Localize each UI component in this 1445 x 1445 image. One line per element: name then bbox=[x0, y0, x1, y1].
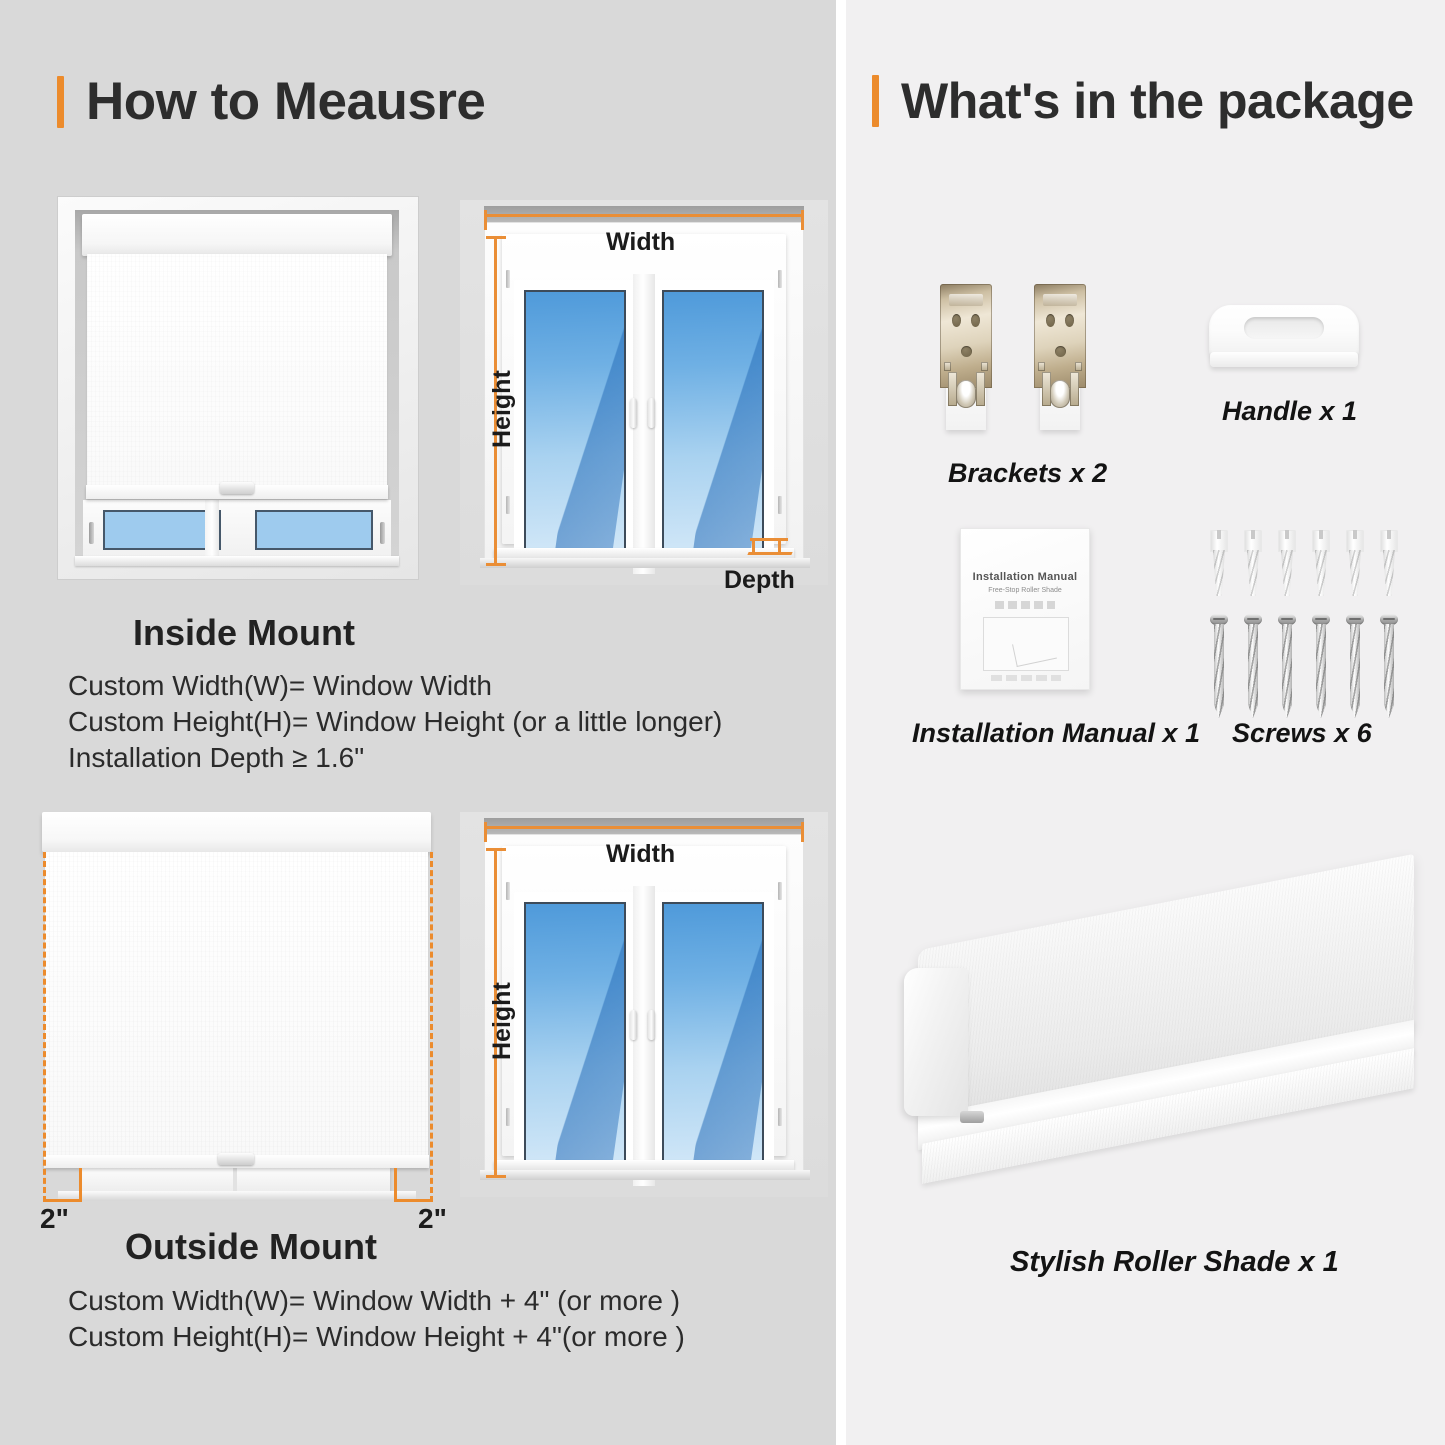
outside-mount-title: Outside Mount bbox=[125, 1226, 377, 1268]
wall-anchor-4 bbox=[1310, 530, 1332, 596]
screw-6 bbox=[1380, 614, 1398, 718]
installation-manual-part: Installation Manual Free-Stop Roller Sha… bbox=[960, 528, 1090, 690]
width-label: Width bbox=[606, 228, 675, 257]
accent-bar-icon bbox=[57, 76, 64, 128]
window-handle-left bbox=[630, 398, 637, 428]
handle-lip bbox=[1210, 352, 1358, 367]
hinge-mark-tl bbox=[506, 270, 510, 288]
window-sash-right bbox=[652, 280, 774, 568]
bracket-slot-l2 bbox=[1038, 362, 1045, 371]
window-sill-ledge-2 bbox=[480, 1170, 810, 1180]
window-sill-outside bbox=[58, 1191, 416, 1200]
width-dimension-cap-right bbox=[801, 210, 804, 230]
screw-shank-2 bbox=[1248, 624, 1258, 718]
bracket-keyhole-1 bbox=[956, 380, 976, 408]
screw-3 bbox=[1278, 614, 1296, 718]
anchor-collar-6 bbox=[1380, 530, 1398, 552]
screw-head-4 bbox=[1312, 614, 1330, 625]
installation-manual-label: Installation Manual x 1 bbox=[912, 718, 1200, 749]
window-sash-row bbox=[83, 500, 391, 562]
manual-cover-title: Installation Manual bbox=[961, 571, 1089, 583]
width-dimension-cap-right-2 bbox=[801, 822, 804, 842]
manual-cover-meta bbox=[995, 601, 1055, 609]
manual-cover-illustration-box bbox=[983, 617, 1069, 671]
anchor-collar-2 bbox=[1244, 530, 1262, 552]
bracket-hole-a2 bbox=[1046, 314, 1055, 327]
outside-mount-shade-illustration bbox=[40, 812, 435, 1202]
height-label-2: Height bbox=[488, 982, 517, 1060]
shade-cassette-outside bbox=[42, 812, 431, 852]
glass-pane-right bbox=[255, 510, 373, 550]
roller-shade-product-photo bbox=[898, 880, 1418, 1210]
width-dimension-line bbox=[484, 214, 804, 217]
screw-head-1 bbox=[1210, 614, 1228, 625]
bracket-hole-c2 bbox=[1055, 346, 1066, 357]
manual-cover-footer bbox=[991, 675, 1061, 681]
manual-cover-sketch bbox=[1012, 636, 1057, 667]
shade-fabric bbox=[87, 254, 387, 487]
screw-head-3 bbox=[1278, 614, 1296, 625]
wall-anchor-1 bbox=[1208, 530, 1230, 596]
width-dimension-line-2 bbox=[484, 826, 804, 829]
window-hinge-left bbox=[89, 522, 94, 544]
height-label: Height bbox=[488, 370, 517, 448]
screw-shank-5 bbox=[1350, 624, 1360, 718]
handle-grip-slot bbox=[1244, 317, 1324, 339]
handle-label: Handle x 1 bbox=[1222, 396, 1357, 427]
height-dimension-cap-top bbox=[486, 236, 506, 239]
inside-mount-line-3: Installation Depth ≥ 1.6" bbox=[68, 742, 364, 774]
window-dimension-figure-outside: Width Height bbox=[460, 812, 828, 1197]
window-sash-right-2 bbox=[652, 892, 774, 1180]
window-casement bbox=[502, 234, 786, 544]
hinge-mark-tl-2 bbox=[506, 882, 510, 900]
glass-glare-right bbox=[688, 290, 764, 558]
handle-part bbox=[1209, 305, 1359, 373]
width-label-2: Width bbox=[606, 840, 675, 869]
bracket-hole-b1 bbox=[971, 314, 980, 327]
overhang-arrow-right bbox=[394, 1199, 432, 1202]
glass-right bbox=[662, 290, 764, 558]
anchor-shaft-3 bbox=[1281, 550, 1293, 596]
hinge-mark-tr bbox=[778, 270, 782, 288]
shade-pull-handle-outside bbox=[218, 1153, 254, 1165]
outside-mount-line-2: Custom Height(H)= Window Height + 4"(or … bbox=[68, 1321, 685, 1353]
overhang-label-right: 2" bbox=[418, 1203, 447, 1235]
anchor-shaft-1 bbox=[1213, 550, 1225, 596]
inside-mount-title: Inside Mount bbox=[133, 612, 355, 654]
overhang-tick-left bbox=[79, 1168, 82, 1202]
glass-glare-left bbox=[550, 290, 626, 558]
shade-pin-end bbox=[960, 1111, 984, 1123]
overhang-label-left: 2" bbox=[40, 1203, 69, 1235]
window-handle-left-2 bbox=[630, 1010, 637, 1040]
screws-label: Screws x 6 bbox=[1232, 718, 1372, 749]
screw-shank-6 bbox=[1384, 624, 1394, 718]
glass-left-2 bbox=[524, 902, 626, 1170]
screw-4 bbox=[1312, 614, 1330, 718]
shade-pull-handle bbox=[220, 482, 254, 494]
anchor-shaft-6 bbox=[1383, 550, 1395, 596]
overhang-dashed-line-right bbox=[430, 852, 433, 1202]
accent-bar-icon-right bbox=[872, 75, 879, 127]
anchor-shaft-4 bbox=[1315, 550, 1327, 596]
inside-mount-shade-illustration bbox=[57, 196, 417, 578]
right-section-heading: What's in the package bbox=[872, 75, 1414, 127]
bracket-tab-r2 bbox=[1070, 372, 1079, 406]
hinge-mark-tr-2 bbox=[778, 882, 782, 900]
wall-anchor-2 bbox=[1242, 530, 1264, 596]
screw-head-2 bbox=[1244, 614, 1262, 625]
hinge-mark-br bbox=[778, 496, 782, 514]
width-dimension-cap-left bbox=[484, 210, 487, 230]
wall-anchor-6 bbox=[1378, 530, 1400, 596]
overhang-arrow-left bbox=[43, 1199, 81, 1202]
outside-mount-line-1: Custom Width(W)= Window Width + 4" (or m… bbox=[68, 1285, 680, 1317]
shade-fabric-outside bbox=[45, 852, 428, 1157]
window-sash-left bbox=[514, 280, 636, 568]
screw-shank-4 bbox=[1316, 624, 1326, 718]
screw-head-5 bbox=[1346, 614, 1364, 625]
inside-mount-line-2: Custom Height(H)= Window Height (or a li… bbox=[68, 706, 722, 738]
left-heading-text: How to Meausre bbox=[86, 75, 485, 128]
window-handle-right bbox=[648, 398, 655, 428]
bracket-hole-b2 bbox=[1065, 314, 1074, 327]
brackets-label: Brackets x 2 bbox=[948, 458, 1107, 489]
window-mullion bbox=[205, 500, 219, 558]
inside-mount-line-1: Custom Width(W)= Window Width bbox=[68, 670, 492, 702]
window-sill bbox=[75, 556, 399, 566]
width-dimension-cap-left-2 bbox=[484, 822, 487, 842]
bracket-hole-a1 bbox=[952, 314, 961, 327]
depth-dimension-line bbox=[750, 538, 788, 541]
window-dimension-figure-inside: Width Height Depth bbox=[460, 200, 828, 585]
screw-shank-3 bbox=[1282, 624, 1292, 718]
anchor-collar-5 bbox=[1346, 530, 1364, 552]
shade-cassette bbox=[82, 214, 392, 256]
bracket-part-2 bbox=[1032, 282, 1088, 432]
anchor-shaft-2 bbox=[1247, 550, 1259, 596]
screw-1 bbox=[1210, 614, 1228, 718]
bracket-tab-r1 bbox=[976, 372, 985, 406]
screw-shank-1 bbox=[1214, 624, 1224, 718]
window-sash-left-2 bbox=[514, 892, 636, 1180]
depth-label: Depth bbox=[724, 566, 795, 595]
glass-pane-left bbox=[103, 510, 221, 550]
glass-glare-right-2 bbox=[688, 902, 764, 1170]
overhang-tick-right bbox=[394, 1168, 397, 1202]
wall-anchor-5 bbox=[1344, 530, 1366, 596]
glass-right-2 bbox=[662, 902, 764, 1170]
window-hinge-right bbox=[380, 522, 385, 544]
manual-cover-subtitle: Free-Stop Roller Shade bbox=[961, 587, 1089, 594]
wall-anchor-3 bbox=[1276, 530, 1298, 596]
anchor-collar-3 bbox=[1278, 530, 1296, 552]
anchor-collar-1 bbox=[1210, 530, 1228, 552]
hinge-mark-br-2 bbox=[778, 1108, 782, 1126]
glass-left bbox=[524, 290, 626, 558]
height-dimension-cap-top-2 bbox=[486, 848, 506, 851]
overhang-dashed-line-left bbox=[43, 852, 46, 1202]
height-dimension-cap-bottom-2 bbox=[486, 1175, 506, 1178]
hinge-mark-bl bbox=[506, 496, 510, 514]
depth-dimension-cap-right bbox=[778, 538, 781, 554]
depth-dimension-cap-left bbox=[752, 538, 755, 554]
handle-body bbox=[1209, 305, 1359, 357]
screw-5 bbox=[1346, 614, 1364, 718]
window-handle-right-2 bbox=[648, 1010, 655, 1040]
bracket-slot-r1 bbox=[981, 362, 988, 371]
shade-end-cap bbox=[904, 968, 968, 1116]
screw-head-6 bbox=[1380, 614, 1398, 625]
bracket-slot-r2 bbox=[1075, 362, 1082, 371]
left-section-heading: How to Meausre bbox=[57, 75, 485, 128]
screw-2 bbox=[1244, 614, 1262, 718]
glass-glare-left-2 bbox=[550, 902, 626, 1170]
anchor-shaft-5 bbox=[1349, 550, 1361, 596]
bracket-slot-l1 bbox=[944, 362, 951, 371]
hinge-mark-bl-2 bbox=[506, 1108, 510, 1126]
anchor-collar-4 bbox=[1312, 530, 1330, 552]
bracket-hole-c1 bbox=[961, 346, 972, 357]
infographic-page: How to Meausre bbox=[0, 0, 1445, 1445]
right-heading-text: What's in the package bbox=[901, 76, 1414, 126]
roller-shade-label: Stylish Roller Shade x 1 bbox=[1010, 1246, 1339, 1279]
height-dimension-cap-bottom bbox=[486, 563, 506, 566]
bracket-part-1 bbox=[938, 282, 994, 432]
bracket-keyhole-2 bbox=[1050, 380, 1070, 408]
window-casement-2 bbox=[502, 846, 786, 1156]
panel-divider bbox=[836, 0, 846, 1445]
